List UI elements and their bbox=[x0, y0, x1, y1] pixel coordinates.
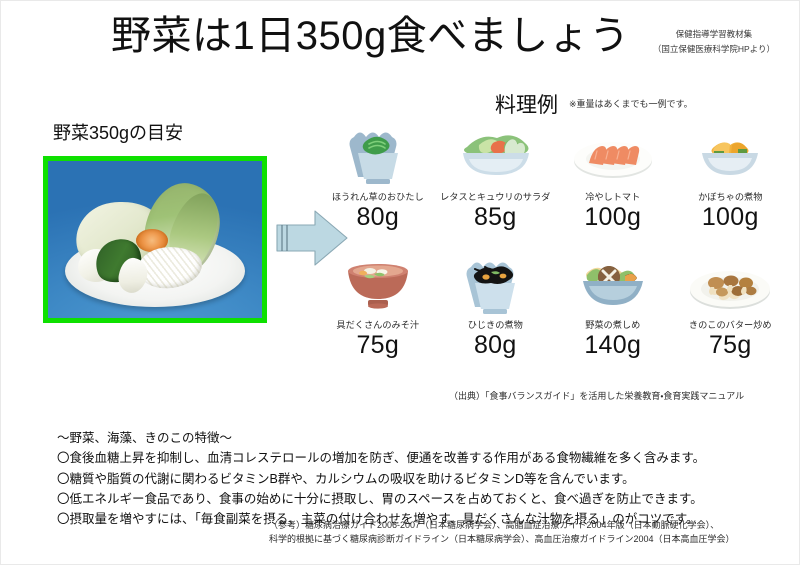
feature-bullet: 〇食後血糖上昇を抑制し、血清コレステロールの増加を防ぎ、便通を改善する作用がある… bbox=[57, 448, 785, 468]
dish-grams: 80g bbox=[474, 331, 517, 359]
bowl-misosoup-icon bbox=[324, 245, 432, 319]
source-credit: 保健指導学習教材集 （国立保健医療科学院HPより） bbox=[653, 27, 775, 57]
dish-grams: 80g bbox=[356, 203, 399, 231]
dish-card: 野菜の煮しめ 140g bbox=[554, 245, 672, 373]
feature-bullet: 〇低エネルギー食品であり、食事の始めに十分に摂取し、胃のスペースを占めておくと、… bbox=[57, 489, 785, 509]
dish-name: レタスとキュウリのサラダ bbox=[440, 192, 550, 202]
bowl-hijiki-icon bbox=[441, 245, 549, 319]
credit-line-2: （国立保健医療科学院HPより） bbox=[653, 42, 775, 57]
features-title: ～野菜、海藻、きのこの特徴～ bbox=[57, 429, 785, 448]
dish-card: 具だくさんのみそ汁 75g bbox=[319, 245, 437, 373]
dish-card: ほうれん草のおひたし 80g bbox=[319, 117, 437, 245]
dish-name: 冷やしトマト bbox=[585, 192, 640, 202]
dish-card: 冷やしトマト 100g bbox=[554, 117, 672, 245]
dish-source-note: （出典）「食事バランスガイド」を活用した栄養教育・食育実践マニュアル bbox=[449, 389, 744, 402]
credit-line-1: 保健指導学習教材集 bbox=[653, 27, 775, 42]
dish-name: きのこのバター炒め bbox=[689, 320, 772, 330]
dish-name: かぼちゃの煮物 bbox=[698, 192, 762, 202]
dish-grams: 85g bbox=[474, 203, 517, 231]
dish-name: ひじきの煮物 bbox=[468, 320, 523, 330]
bowl-salad-icon bbox=[441, 117, 549, 191]
plate-tomato-icon bbox=[559, 117, 667, 191]
dish-name: 野菜の煮しめ bbox=[585, 320, 640, 330]
bowl-pumpkin-icon bbox=[676, 117, 784, 191]
vegetable-photo-frame bbox=[43, 156, 267, 323]
dish-grams: 140g bbox=[584, 331, 641, 359]
dish-grams: 100g bbox=[702, 203, 759, 231]
dish-card: レタスとキュウリのサラダ 85g bbox=[437, 117, 555, 245]
page-title: 野菜は1日350g食べましょう bbox=[111, 15, 630, 58]
bowl-spinach-icon bbox=[324, 117, 432, 191]
dish-examples-note: ※重量はあくまでも一例です。 bbox=[569, 97, 693, 110]
dish-name: 具だくさんのみそ汁 bbox=[336, 320, 419, 330]
dish-card: きのこのバター炒め 75g bbox=[672, 245, 790, 373]
reference-line-2: 科学的根拠に基づく糖尿病診断ガイドライン（日本糖尿病学会）、高血圧治療ガイドライ… bbox=[269, 533, 735, 547]
features-section: ～野菜、海藻、きのこの特徴～ 〇食後血糖上昇を抑制し、血清コレステロールの増加を… bbox=[57, 429, 785, 529]
dish-card: かぼちゃの煮物 100g bbox=[672, 117, 790, 245]
feature-bullet: 〇糖質や脂質の代謝に関わるビタミンB群や、カルシウムの吸収を助けるビタミンD等を… bbox=[57, 469, 785, 489]
bowl-simmered-vegetables-icon bbox=[559, 245, 667, 319]
dish-card: ひじきの煮物 80g bbox=[437, 245, 555, 373]
vegetable-guideline-heading: 野菜350gの目安 bbox=[53, 119, 183, 145]
dish-name: ほうれん草のおひたし bbox=[332, 192, 424, 202]
dish-examples-heading: 料理例 bbox=[495, 89, 558, 119]
vegetable-photo bbox=[48, 161, 262, 318]
references-note: （参考）糖尿病治療ガイド2006-2007（日本糖尿病学会）、高脂血症治療ガイド… bbox=[269, 519, 735, 547]
dish-grams: 75g bbox=[709, 331, 752, 359]
dish-grams: 75g bbox=[356, 331, 399, 359]
dish-grams: 100g bbox=[584, 203, 641, 231]
reference-line-1: （参考）糖尿病治療ガイド2006-2007（日本糖尿病学会）、高脂血症治療ガイド… bbox=[269, 519, 735, 533]
dish-grid: ほうれん草のおひたし 80g レタスとキュウリのサラダ 85g bbox=[319, 117, 789, 373]
poster-page: 野菜は1日350g食べましょう 保健指導学習教材集 （国立保健医療科学院HPより… bbox=[0, 0, 800, 565]
plate-mushroom-icon bbox=[676, 245, 784, 319]
